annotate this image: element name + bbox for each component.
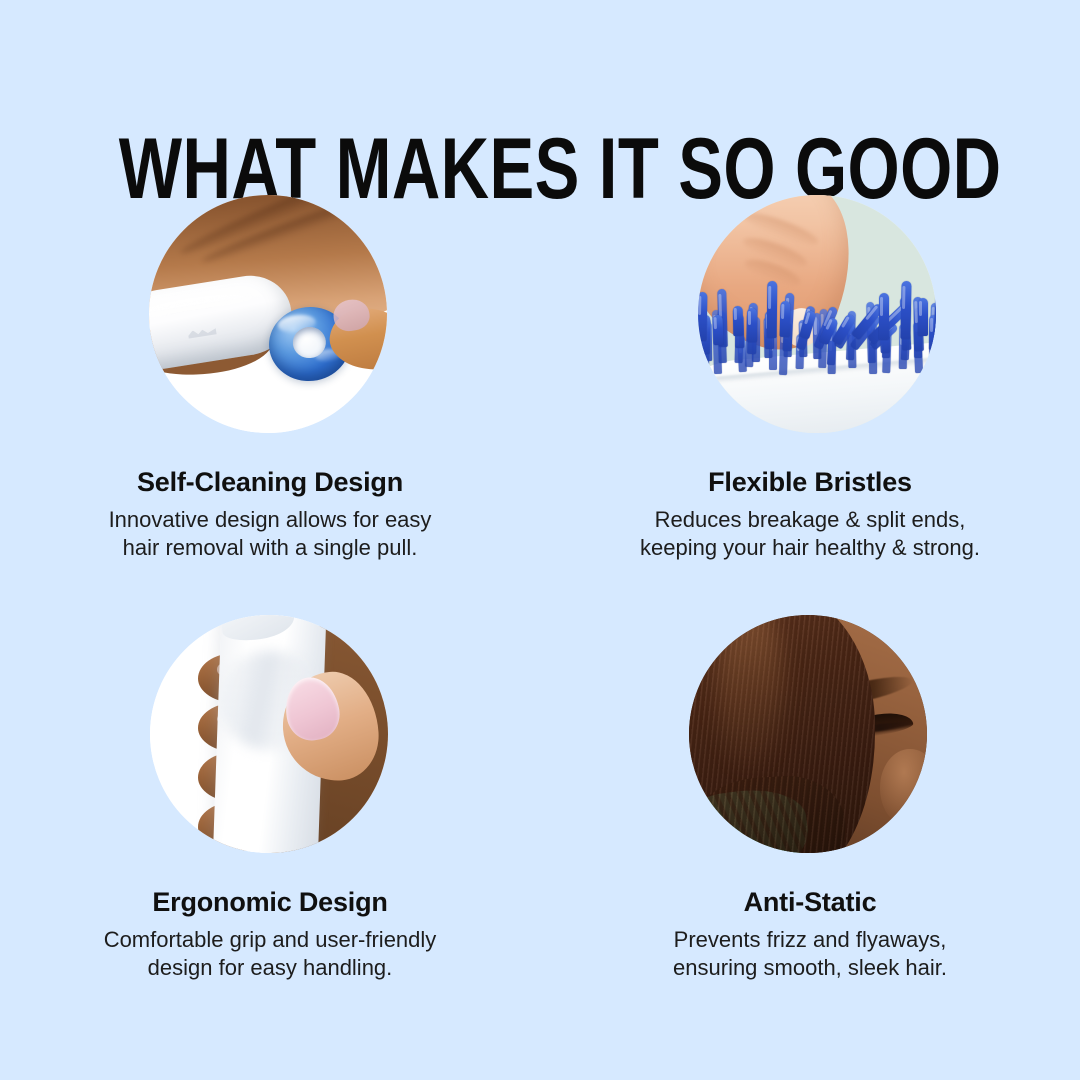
feature-title: Self-Cleaning Design: [137, 467, 403, 497]
feature-image-ergonomic-design: [150, 615, 388, 853]
feature-title: Ergonomic Design: [152, 887, 387, 917]
feature-card-anti-static: Anti-Static Prevents frizz and flyaways,…: [540, 615, 1080, 1035]
brand-logo-icon: [187, 327, 216, 339]
feature-image-self-cleaning-design: [149, 195, 387, 433]
feature-description: Reduces breakage & split ends, keeping y…: [640, 506, 980, 562]
bristle: [918, 298, 928, 336]
feature-description: Prevents frizz and flyaways, ensuring sm…: [673, 926, 947, 982]
handle-highlight: [149, 288, 254, 325]
bristle: [733, 306, 743, 336]
bristle: [712, 315, 723, 345]
bristle: [747, 307, 757, 341]
feature-benefits-page: WHAT MAKES IT SO GOOD: [0, 0, 1080, 1080]
feature-image-flexible-bristles: [698, 195, 936, 433]
self-cleaning-illustration: [149, 195, 387, 433]
bristle: [766, 281, 776, 338]
flexible-bristles-illustration: [698, 195, 936, 433]
bristle: [879, 293, 889, 340]
feature-title: Anti-Static: [744, 887, 877, 917]
bristle: [900, 281, 911, 339]
feature-grid: Self-Cleaning Design Innovative design a…: [0, 195, 1080, 1035]
feature-description: Comfortable grip and user-friendly desig…: [104, 926, 437, 982]
ergonomic-design-illustration: [150, 615, 388, 853]
handle-top-curve: [215, 615, 296, 644]
bristle: [698, 292, 707, 341]
feature-description: Innovative design allows for easy hair r…: [109, 506, 432, 562]
feature-title: Flexible Bristles: [708, 467, 912, 497]
hair-sheen-highlight: [717, 615, 783, 774]
feature-card-ergonomic-design: Ergonomic Design Comfortable grip and us…: [0, 615, 540, 1035]
cheek-highlight: [880, 749, 927, 826]
feature-image-anti-static: [689, 615, 927, 853]
feature-card-flexible-bristles: Flexible Bristles Reduces breakage & spl…: [540, 195, 1080, 615]
anti-static-illustration: [689, 615, 927, 853]
bristle: [934, 279, 936, 336]
bristle: [779, 301, 789, 338]
feature-card-self-cleaning-design: Self-Cleaning Design Innovative design a…: [0, 195, 540, 615]
